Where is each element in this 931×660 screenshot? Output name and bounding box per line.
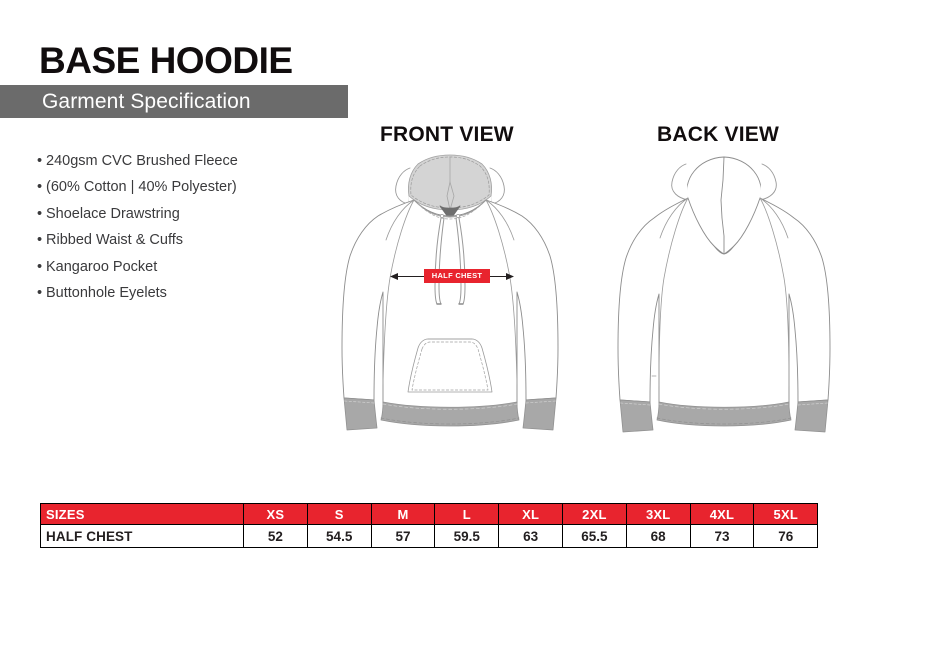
bullet-icon: • (37, 148, 46, 174)
spec-item-label: (60% Cotton | 40% Polyester) (46, 179, 237, 195)
hoodie-back-illustration (608, 152, 840, 444)
table-header-m: M (371, 504, 435, 525)
front-view-title: FRONT VIEW (380, 123, 514, 147)
spec-item-label: Kangaroo Pocket (46, 259, 157, 275)
table-header-3xl: 3XL (626, 504, 690, 525)
cell-half-chest-4xl: 73 (690, 525, 754, 548)
spec-item-label: Shoelace Drawstring (46, 206, 180, 222)
spec-list-item: •Ribbed Waist & Cuffs (37, 227, 337, 253)
cell-half-chest-s: 54.5 (307, 525, 371, 548)
spec-list-item: •Shoelace Drawstring (37, 201, 337, 227)
spec-item-label: Ribbed Waist & Cuffs (46, 232, 183, 248)
bullet-icon: • (37, 201, 46, 227)
spec-item-label: 240gsm CVC Brushed Fleece (46, 153, 238, 169)
table-header-2xl: 2XL (562, 504, 626, 525)
row-label-half-chest: HALF CHEST (41, 525, 244, 548)
bullet-icon: • (37, 254, 46, 280)
table-header-s: S (307, 504, 371, 525)
cell-half-chest-xl: 63 (499, 525, 563, 548)
spec-list-item: •240gsm CVC Brushed Fleece (37, 148, 337, 174)
cell-half-chest-3xl: 68 (626, 525, 690, 548)
half-chest-measure-arrow (390, 269, 514, 285)
cell-half-chest-xs: 52 (244, 525, 308, 548)
back-view-title: BACK VIEW (657, 123, 779, 147)
size-chart-table: SIZES XS S M L XL 2XL 3XL 4XL 5XL HALF C… (40, 503, 818, 548)
table-header-4xl: 4XL (690, 504, 754, 525)
spec-list-item: •(60% Cotton | 40% Polyester) (37, 174, 337, 200)
page-title: BASE HOODIE (39, 42, 293, 79)
table-header-xs: XS (244, 504, 308, 525)
table-header-row: SIZES XS S M L XL 2XL 3XL 4XL 5XL (41, 504, 818, 525)
cell-half-chest-2xl: 65.5 (562, 525, 626, 548)
spec-item-label: Buttonhole Eyelets (46, 285, 167, 301)
bullet-icon: • (37, 227, 46, 253)
bullet-icon: • (37, 280, 46, 306)
spec-list-item: •Buttonhole Eyelets (37, 280, 337, 306)
table-header-5xl: 5XL (754, 504, 818, 525)
subtitle-text: Garment Specification (42, 90, 251, 114)
hoodie-front-illustration (330, 152, 570, 444)
bullet-icon: • (37, 174, 46, 200)
cell-half-chest-l: 59.5 (435, 525, 499, 548)
spec-list-item: •Kangaroo Pocket (37, 254, 337, 280)
cell-half-chest-5xl: 76 (754, 525, 818, 548)
table-header-l: L (435, 504, 499, 525)
table-header-sizes: SIZES (41, 504, 244, 525)
cell-half-chest-m: 57 (371, 525, 435, 548)
specification-list: •240gsm CVC Brushed Fleece •(60% Cotton … (37, 148, 337, 306)
table-row: HALF CHEST 52 54.5 57 59.5 63 65.5 68 73… (41, 525, 818, 548)
table-header-xl: XL (499, 504, 563, 525)
